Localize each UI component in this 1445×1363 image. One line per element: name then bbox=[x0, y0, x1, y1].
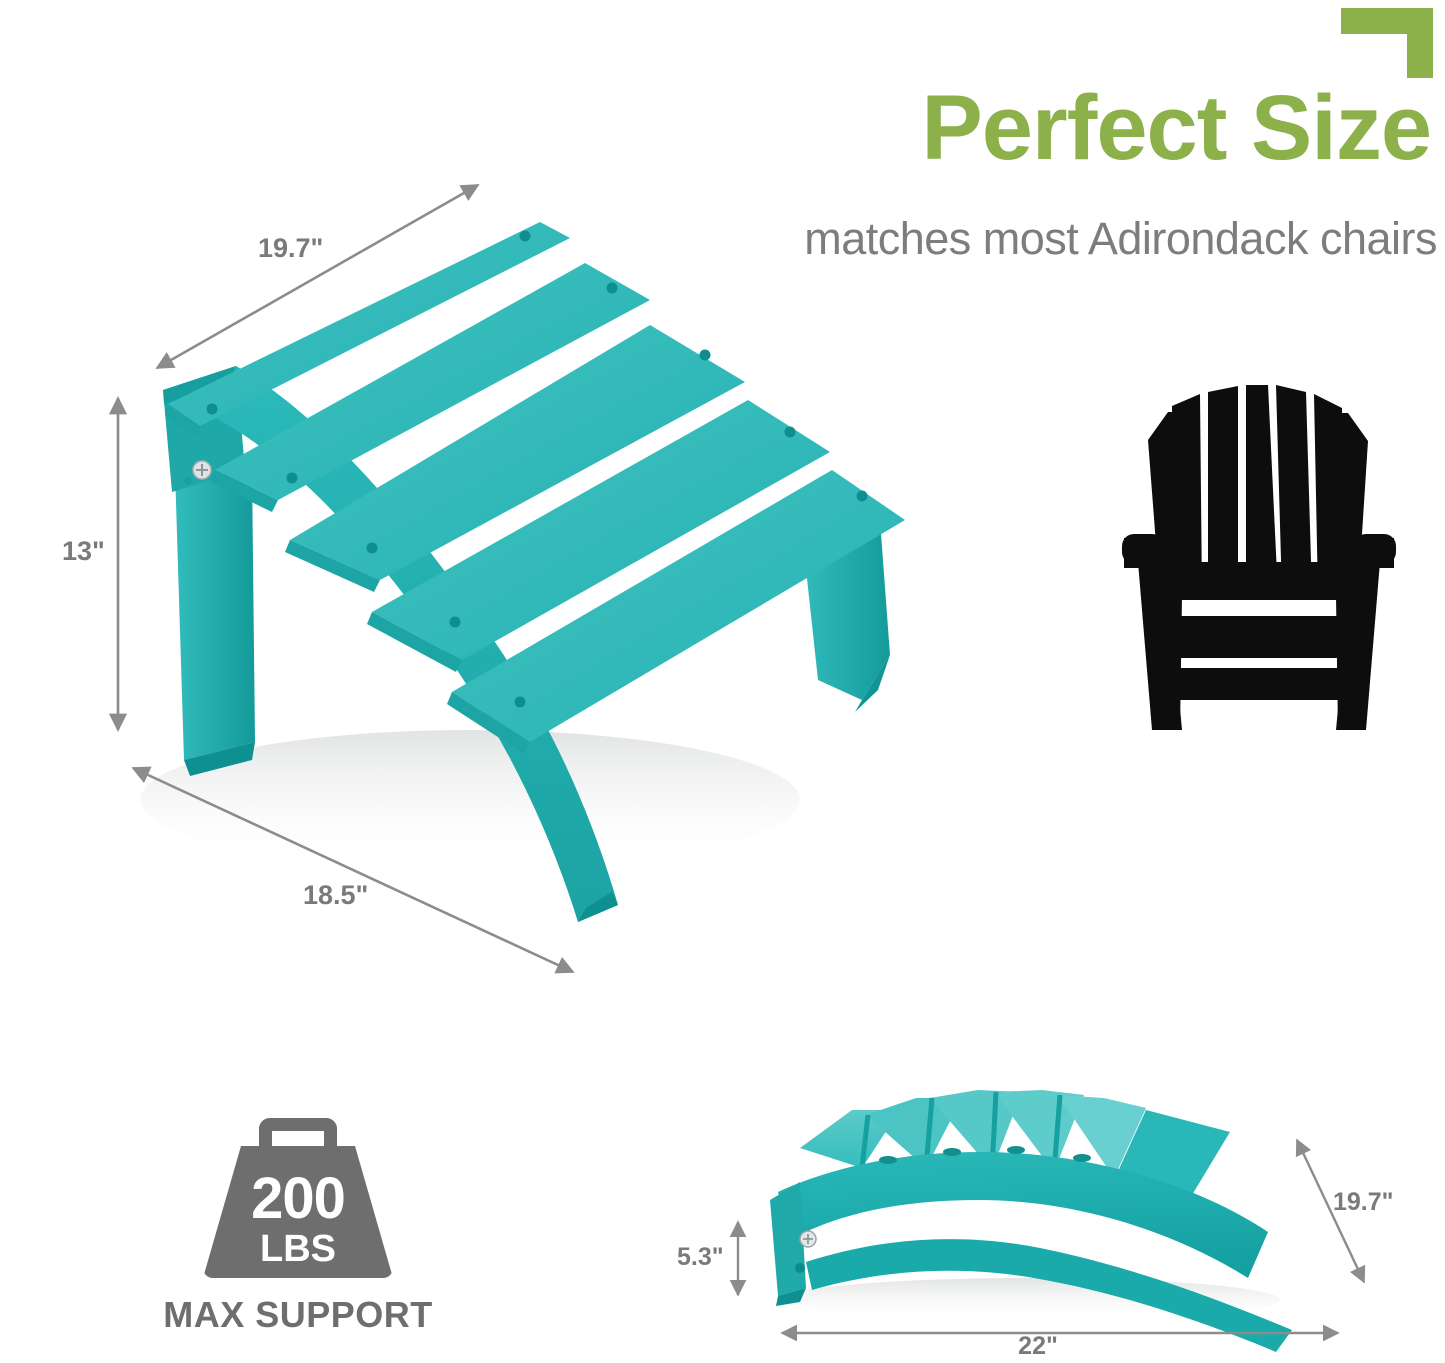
dimension-label-folded-height-53: 5.3" bbox=[677, 1243, 724, 1272]
dimension-label-height-13: 13" bbox=[62, 536, 105, 567]
page-title: Perfect Size bbox=[921, 82, 1431, 174]
adirondack-chair-silhouette bbox=[1122, 385, 1396, 730]
weight-icon: 200 LBS bbox=[203, 1118, 393, 1278]
corner-bracket-icon bbox=[1341, 8, 1433, 78]
weight-unit: LBS bbox=[203, 1230, 393, 1268]
dimension-label-folded-depth-197: 19.7" bbox=[1333, 1188, 1394, 1217]
dimension-label-depth-197: 19.7" bbox=[258, 233, 323, 264]
dimension-arrows-folded bbox=[738, 1140, 1364, 1333]
arrow-width-185 bbox=[133, 768, 573, 972]
arrow-depth-197 bbox=[157, 185, 478, 368]
page-subtitle: matches most Adirondack chairs bbox=[804, 216, 1437, 261]
weight-number: 200 bbox=[203, 1170, 393, 1228]
dimension-arrows-main bbox=[118, 185, 573, 972]
dimension-label-folded-width-22: 22" bbox=[1018, 1332, 1058, 1361]
max-support-block: 200 LBS MAX SUPPORT bbox=[148, 1118, 448, 1336]
ottoman-isometric-view bbox=[163, 222, 905, 922]
max-support-label: MAX SUPPORT bbox=[148, 1294, 448, 1336]
infographic-canvas: Perfect Size matches most Adirondack cha… bbox=[0, 0, 1445, 1363]
main-ottoman-shadow bbox=[140, 730, 800, 870]
ottoman-folded-side-view bbox=[770, 1090, 1292, 1352]
dimension-label-width-185: 18.5" bbox=[303, 880, 368, 911]
